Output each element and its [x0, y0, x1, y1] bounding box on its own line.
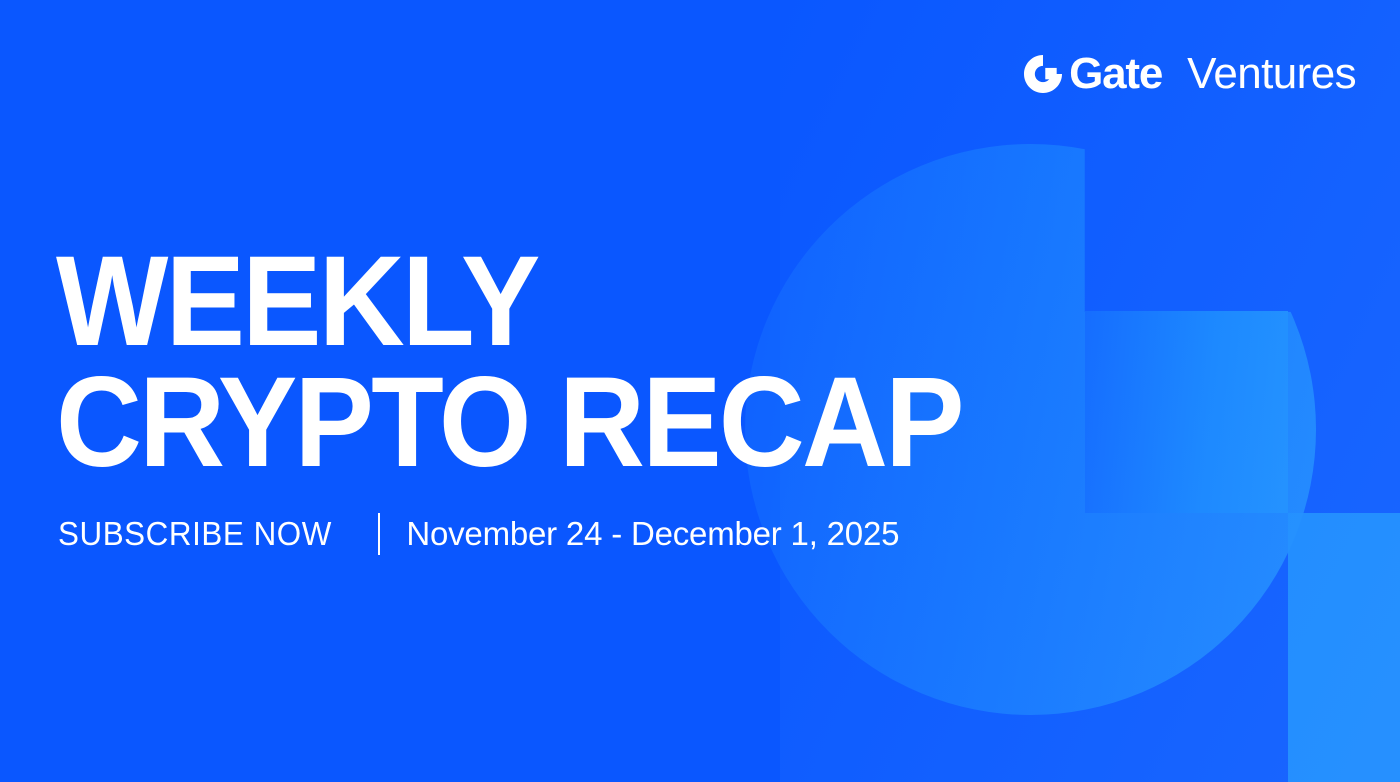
weekly-crypto-recap-banner: Gate Ventures WEEKLY CRYPTO RECAP SUBSCR… — [0, 0, 1400, 782]
date-range-label: November 24 - December 1, 2025 — [406, 515, 899, 553]
headline-line-1: WEEKLY — [56, 246, 962, 359]
gate-square-block-icon — [1085, 311, 1288, 513]
subtitle-divider — [378, 513, 380, 555]
headline-line-2: CRYPTO RECAP — [56, 367, 962, 480]
page-title: WEEKLY CRYPTO RECAP — [56, 246, 1030, 479]
brand-name: Gate — [1069, 52, 1162, 96]
subscribe-now-label[interactable]: SUBSCRIBE NOW — [58, 515, 332, 553]
gate-g-logo-icon — [1024, 55, 1062, 93]
subtitle-row: SUBSCRIBE NOW November 24 - December 1, … — [58, 513, 899, 555]
brand-suffix: Ventures — [1187, 52, 1356, 96]
corner-wash-icon — [1288, 513, 1400, 782]
brand-lockup: Gate Ventures — [1024, 48, 1356, 100]
